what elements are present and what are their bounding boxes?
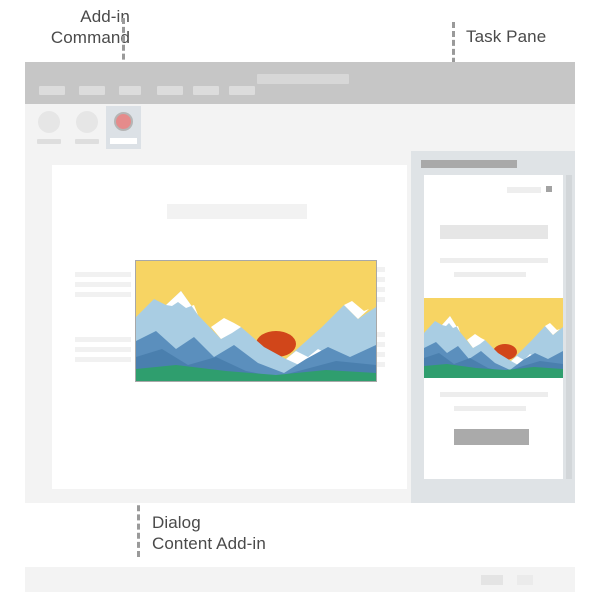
document-text-line bbox=[75, 357, 131, 362]
annotation-label-dialog-content-addin: Dialog Content Add-in bbox=[152, 512, 352, 554]
mountain-sunrise-illustration bbox=[424, 298, 563, 378]
task-pane-action-button[interactable] bbox=[454, 429, 529, 445]
mountain-sunrise-illustration bbox=[136, 261, 376, 381]
close-icon[interactable] bbox=[546, 186, 552, 192]
task-pane-text-line bbox=[454, 406, 526, 411]
task-pane-picture[interactable] bbox=[424, 298, 563, 378]
document-canvas bbox=[25, 151, 575, 503]
document-text-line bbox=[75, 292, 131, 297]
ribbon-command-1[interactable] bbox=[37, 111, 61, 144]
annotation-label-addin-command: Add-in Command bbox=[20, 6, 130, 48]
task-pane-heading-placeholder bbox=[440, 225, 548, 239]
annotation-label-task-pane: Task Pane bbox=[466, 26, 596, 47]
ribbon-tab-6[interactable] bbox=[229, 86, 255, 95]
addin-command-label bbox=[110, 138, 137, 144]
document-text-line bbox=[75, 272, 131, 277]
app-window bbox=[25, 62, 575, 503]
document-text-line bbox=[75, 282, 131, 287]
document-inserted-picture[interactable] bbox=[135, 260, 377, 382]
ribbon-command-1-label bbox=[37, 139, 61, 144]
ribbon-command-1-icon bbox=[38, 111, 60, 133]
ribbon-command-2-icon bbox=[76, 111, 98, 133]
ribbon-command-2[interactable] bbox=[75, 111, 99, 144]
ribbon-tab-3[interactable] bbox=[119, 86, 141, 95]
task-pane-header-bar bbox=[421, 160, 517, 168]
ribbon-command-2-label bbox=[75, 139, 99, 144]
ribbon-tab-strip bbox=[25, 62, 575, 104]
status-chip-1[interactable] bbox=[481, 575, 503, 585]
task-pane-body bbox=[424, 175, 563, 479]
document-title-placeholder bbox=[167, 204, 307, 219]
task-pane-text-line bbox=[454, 272, 526, 277]
document-text-line bbox=[75, 337, 131, 342]
task-pane bbox=[411, 151, 575, 503]
addin-command-button[interactable] bbox=[106, 106, 141, 149]
task-pane-text-line bbox=[440, 258, 548, 263]
task-pane-scrollbar[interactable] bbox=[566, 175, 572, 479]
ribbon-tab-1[interactable] bbox=[39, 86, 65, 95]
task-pane-title-placeholder bbox=[507, 187, 541, 193]
status-chip-2[interactable] bbox=[517, 575, 533, 585]
addin-command-icon bbox=[114, 112, 133, 131]
ribbon-command-area bbox=[25, 104, 575, 152]
ribbon-tab-4[interactable] bbox=[157, 86, 183, 95]
ribbon-tab-5[interactable] bbox=[193, 86, 219, 95]
document-page[interactable] bbox=[52, 165, 407, 489]
document-text-line bbox=[75, 347, 131, 352]
task-pane-text-line bbox=[440, 392, 548, 397]
ribbon-title-chip bbox=[257, 74, 349, 84]
ribbon-tab-2[interactable] bbox=[79, 86, 105, 95]
